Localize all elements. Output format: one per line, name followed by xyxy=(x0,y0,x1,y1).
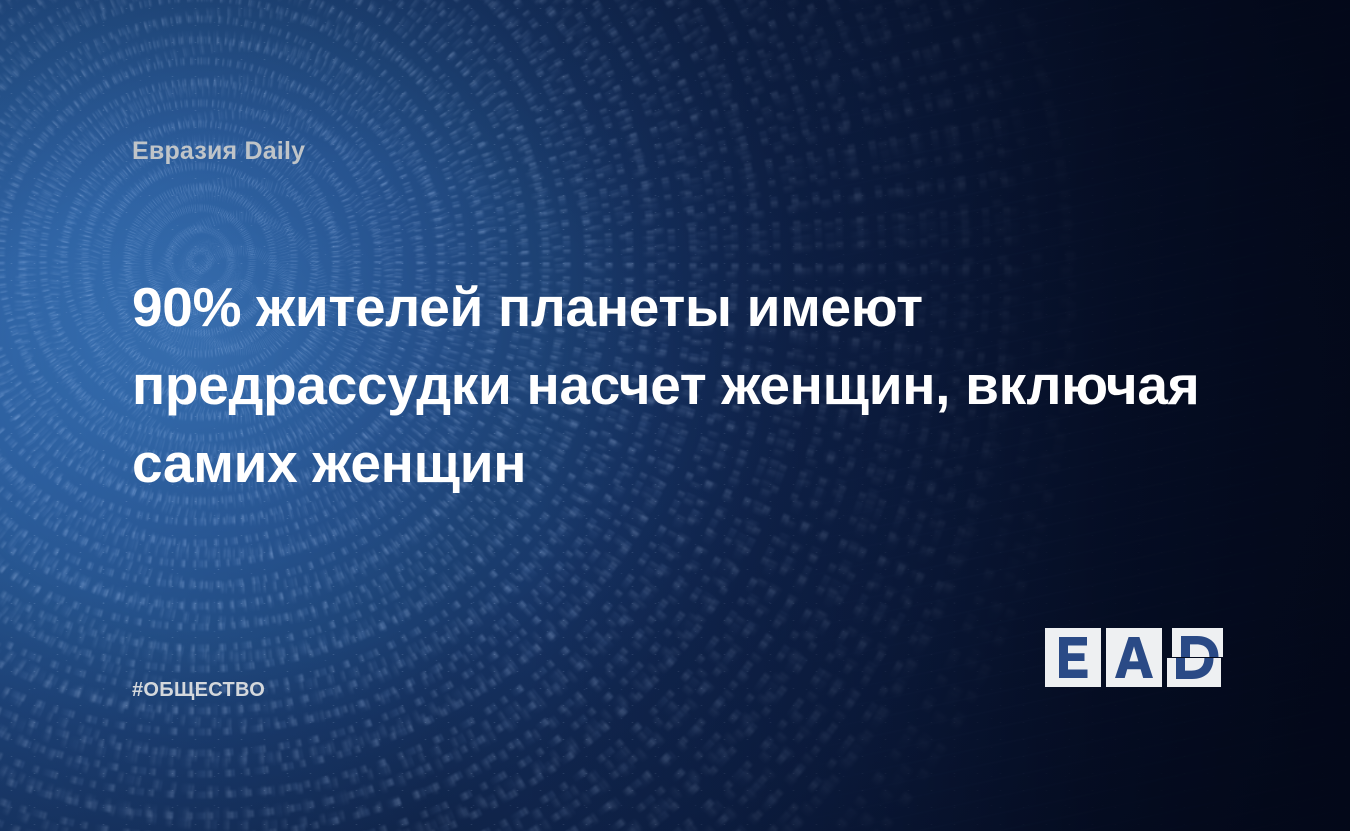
logo-tile-a xyxy=(1106,628,1162,687)
headline: 90% жителей планеты имеют предрассудки н… xyxy=(132,268,1242,502)
ead-logo[interactable] xyxy=(1045,628,1223,687)
logo-tile-d xyxy=(1167,628,1223,687)
logo-tile-e xyxy=(1045,628,1101,687)
logo-tile-d-upper xyxy=(1172,628,1223,657)
logo-tile-d-lower xyxy=(1167,658,1221,687)
category-tag[interactable]: #ОБЩЕСТВО xyxy=(132,679,265,702)
news-card: Евразия Daily 90% жителей планеты имеют … xyxy=(0,0,1350,831)
publication-brand[interactable]: Евразия Daily xyxy=(132,137,305,166)
